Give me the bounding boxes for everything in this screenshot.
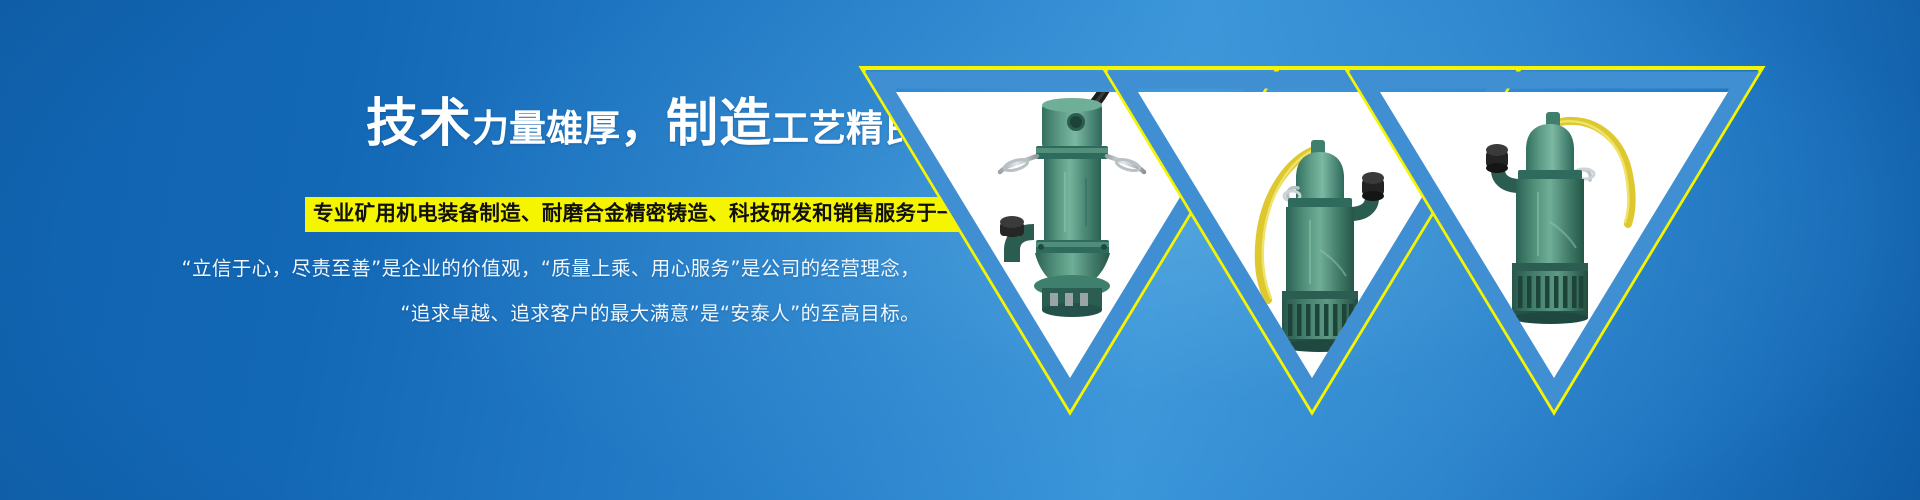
headline-comma: ， bbox=[620, 99, 666, 151]
headline-segment-3: 制造 bbox=[666, 94, 772, 154]
product-triangles-graphic bbox=[820, 0, 1920, 500]
banner-headline: 技术力量雄厚，制造工艺精良 bbox=[0, 98, 920, 150]
body-text-line-2: “追求卓越、追求客户的最大满意”是“安泰人”的至高目标。 bbox=[0, 297, 920, 326]
body-text-line-1: “立信于心，尽责至善”是企业的价值观，“质量上乘、用心服务”是公司的经营理念， bbox=[0, 252, 920, 281]
promo-banner: 技术力量雄厚，制造工艺精良 专业矿用机电装备制造、耐磨合金精密铸造、科技研发和销… bbox=[0, 0, 1920, 500]
headline-segment-2: 力量雄厚 bbox=[472, 107, 620, 150]
headline-segment-1: 技术 bbox=[366, 94, 472, 154]
